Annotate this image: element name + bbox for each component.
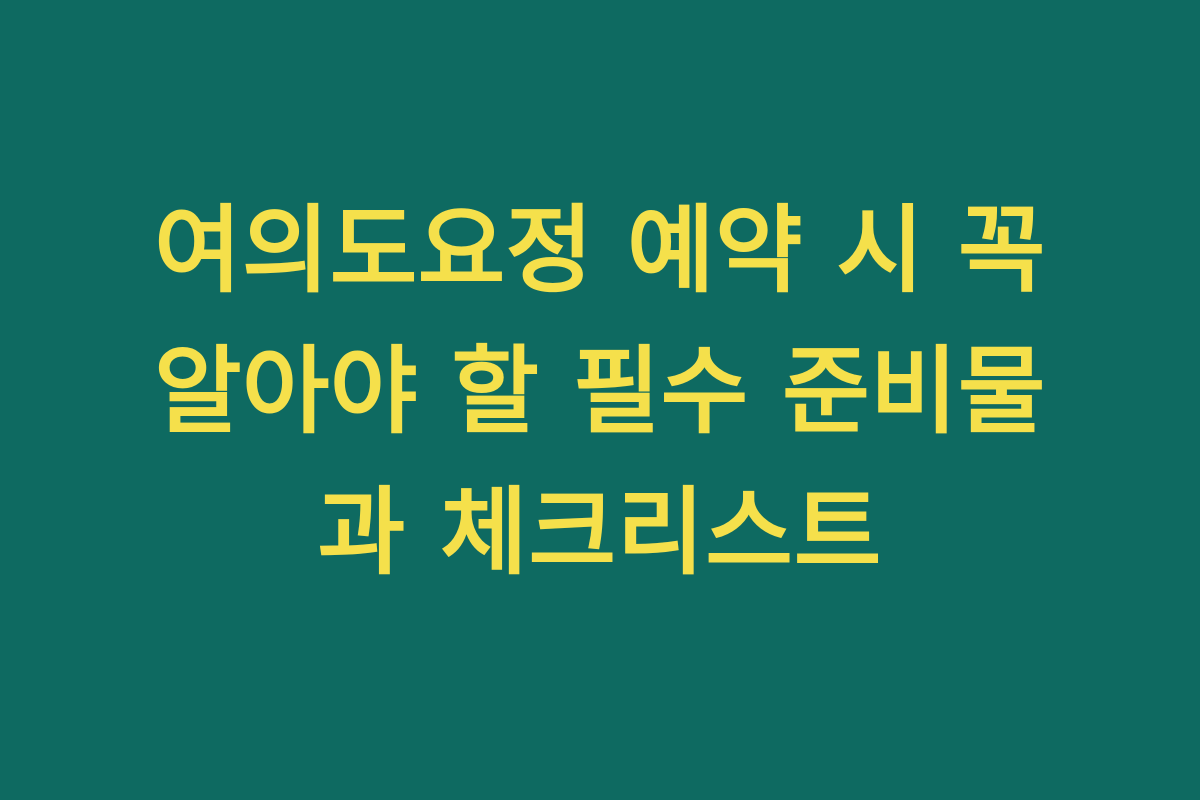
title-banner: 여의도요정 예약 시 꼭 알아야 할 필수 준비물 과 체크리스트 [0, 0, 1200, 800]
headline-line-1: 여의도요정 예약 시 꼭 [95, 181, 1105, 322]
headline-line-2: 알아야 할 필수 준비물 [95, 322, 1105, 463]
headline-text-block: 여의도요정 예약 시 꼭 알아야 할 필수 준비물 과 체크리스트 [95, 181, 1105, 604]
headline-line-3: 과 체크리스트 [95, 463, 1105, 604]
